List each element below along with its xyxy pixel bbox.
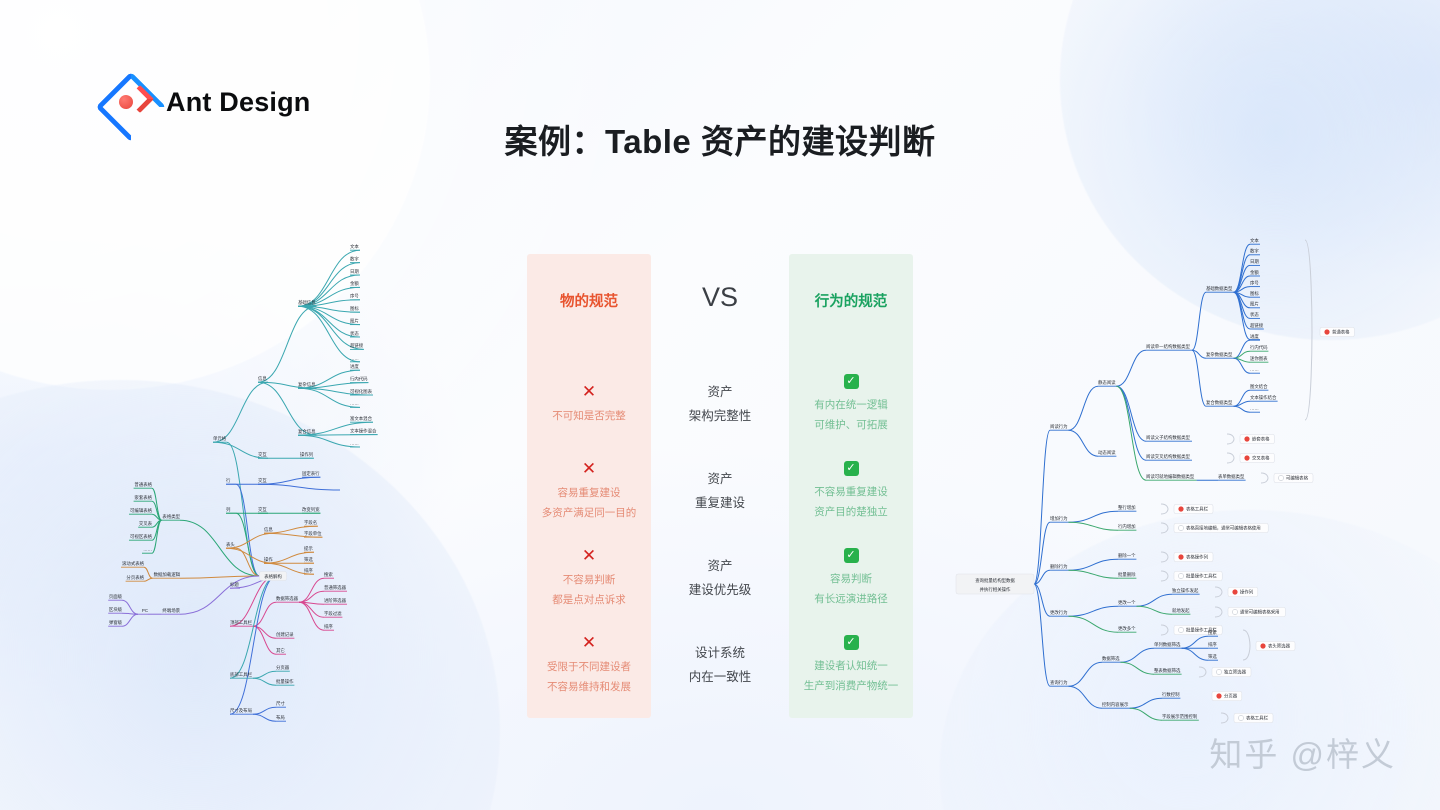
right-node-cross: 阅读交叉结构数据类型 [1146,453,1191,460]
right-leaf-basic-7: 状态 [1250,311,1259,317]
left-node-title: 标题 [230,581,239,588]
right-node-change-many: 更改多个 [1118,625,1136,632]
red-dot-icon [1260,643,1265,648]
map-bracket [1161,625,1168,635]
left-node-col-width: 改变列宽 [302,506,320,513]
left-leaf-basic-5: 图标 [350,305,359,312]
right-leaf-complex-2: 迷你图表 [1250,355,1268,362]
comparison-criterion: 内在一致性 [689,667,752,687]
map-bracket [1221,713,1228,723]
right-result-14: 表格工具栏 [1246,715,1269,722]
left-leaf-filter-4: 排序 [324,623,333,630]
red-dot-icon [1244,436,1249,441]
map-edge [152,520,162,553]
comparison-text: 不可知是否完整 [552,408,626,424]
comparison-text: 多资产满足同一目的 [542,505,637,521]
right-leaf-basic-5: 图标 [1250,290,1259,297]
comparison-column-right: 行为的规范 ✓有内在统一逻辑可维护、可拓展✓不容易重复建设资产目的楚独立✓容易判… [789,254,913,718]
map-edge [180,576,259,614]
map-edge [1034,430,1050,584]
right-node-parent-child: 阅读父子结构数据类型 [1146,434,1191,441]
right-leaf-complex-0: 进度 [1250,333,1259,340]
comparison-cell-middle-0: 资产架构完整性 [651,360,789,447]
left-node-action-col: 操作列 [300,451,314,458]
right-leaf-basic-3: 金额 [1250,269,1259,276]
right-node-table-filter: 整表数据筛选 [1154,667,1181,674]
left-node-others: 其它 [276,647,285,654]
right-leaf-basic-6: 图片 [1250,301,1259,308]
comparison-criterion: 建设优先级 [689,580,752,600]
red-dot-icon [1324,329,1329,334]
comparison-text: 可维护、可拓展 [814,417,888,433]
left-leaf-compound-2: …… [350,441,359,446]
map-bracket [1161,571,1168,581]
left-leaf-complex-3: …… [350,401,359,406]
right-node-col-filter: 单列数据筛选 [1154,641,1181,648]
gray-dot-icon [1232,609,1237,614]
map-edge [1116,386,1146,460]
comparison-cell-right-3: ✓建设者认知统一生产到消费产物统一 [789,621,913,708]
map-edge [227,442,260,576]
left-leaf-filter-2: 进阶筛选器 [324,597,347,604]
map-edge [144,567,152,578]
comparison-criterion: 设计系统 [695,643,745,663]
comparison-criterion: 架构完整性 [689,406,752,426]
map-bracket [1161,504,1168,514]
gray-dot-icon [1216,669,1221,674]
map-bracket [1215,607,1222,617]
left-node-cell: 单元格 [213,435,227,442]
map-edge [1034,522,1050,584]
map-edge [1116,386,1146,480]
comparison-cell-middle-2: 资产建设优先级 [651,534,789,621]
left-leaf-terminal-1: 区块级 [109,606,123,613]
right-node-inplace-op: 就地发起 [1172,607,1190,614]
left-column-header: 物的规范 [527,290,651,311]
comparison-text: 都是点对点诉求 [552,592,626,608]
right-result-0: 普通表格 [1332,329,1350,336]
right-node-row-count: 行数控制 [1162,691,1180,698]
comparison-cell-middle-1: 资产重复建设 [651,447,789,534]
right-node-content-display: 控制内容展示 [1102,701,1129,708]
left-leaf-size-0: 尺寸 [276,700,285,707]
left-leaf-compound-1: 文本操作混合 [350,427,377,434]
left-node-header: 表头 [226,541,235,548]
left-leaf-header-op-0: 提示 [304,545,313,552]
left-leaf-basic-1: 数字 [350,255,359,262]
left-leaf-basic-7: 状态 [350,330,359,336]
left-node-fixed-row: 固定表行 [302,470,320,477]
comparison-cell-left-2: ✕不容易判断都是点对点诉求 [527,534,651,621]
right-result-4: 表格工具栏 [1186,506,1209,513]
right-leaf-complex-3: …… [1250,367,1259,372]
right-result-13: 分页器 [1224,693,1238,700]
map-edge [1068,511,1118,522]
comparison-cell-middle-3: 设计系统内在一致性 [651,621,789,708]
right-result-2: 交叉表格 [1252,455,1270,462]
map-edge [299,591,324,602]
gray-dot-icon [1178,627,1183,632]
right-mind-map: 查询批量结构型数据并执行相关操作阅读行为静态阅读动态阅读阅读单一结构数据类型基础… [950,232,1370,732]
right-leaf-complex-1: 行内代码 [1250,344,1268,351]
right-result-11: 表头筛选器 [1268,643,1291,650]
map-edge [152,488,162,520]
map-edge [1120,648,1154,662]
left-node-row: 行 [226,477,231,484]
map-bracket [1161,523,1168,533]
map-bracket [1227,434,1234,444]
map-edge [253,671,276,678]
comparison-criterion: 重复建设 [695,493,745,513]
cross-icon: ✕ [582,547,596,564]
map-edge [144,578,152,581]
right-result-1: 嵌套表格 [1252,436,1270,443]
comparison-criterion: 资产 [707,469,732,489]
right-node-field-scope: 字段展示范围控制 [1162,713,1198,720]
red-dot-icon [1216,693,1221,698]
comparison-text: 不容易维持和发展 [547,679,631,695]
left-node-header-op: 操作 [264,556,273,563]
left-leaf-table-type-1: 嵌套表格 [134,494,152,501]
red-dot-icon [1178,554,1183,559]
map-bracket [1161,552,1168,562]
cross-icon: ✕ [582,383,596,400]
left-leaf-header-op-2: 排序 [304,567,313,574]
right-node-add-inline: 行内增加 [1118,523,1136,530]
map-edge [1182,636,1208,648]
left-leaf-basic-3: 金额 [350,280,359,287]
left-leaf-header-info-0: 字段名 [304,519,317,526]
cross-icon: ✕ [582,460,596,477]
map-bracket [1227,453,1234,463]
left-leaf-table-type-2: 可编辑表格 [130,507,153,514]
map-edge [1068,616,1118,632]
right-leaf-compound-0: 图文结合 [1250,383,1268,390]
right-node-form-type: 表单数据类型 [1218,473,1245,480]
right-node-del-batch: 批量删除 [1118,571,1136,578]
map-edge [1182,648,1208,660]
comparison-criterion: 资产 [707,382,732,402]
map-edge [1068,522,1118,530]
right-node-add-row: 整行增加 [1118,504,1136,511]
map-edge [258,306,316,382]
red-dot-icon [1178,506,1183,511]
comparison-cell-left-1: ✕容易重复建设多资产满足同一目的 [527,447,651,534]
watermark: 知乎 @梓义 [1209,728,1396,776]
right-result-3: 可编辑表格 [1286,475,1309,482]
comparison-text: 有内在统一逻辑 [814,397,888,413]
map-bracket [1305,240,1312,420]
right-node-add: 增加行为 [1050,515,1068,522]
map-edge [230,576,277,714]
left-leaf-size-1: 布局 [276,714,285,721]
right-leaf-colfilter-2: 筛选 [1208,653,1217,660]
map-edge [1130,708,1162,720]
right-leaf-colfilter-1: 排序 [1208,641,1217,648]
left-leaf-header-op-1: 筛选 [304,556,313,563]
right-node-complex-type: 复杂数据类型 [1206,351,1233,358]
red-dot-icon [1232,589,1237,594]
gray-dot-icon [1238,715,1243,720]
left-leaf-table-type-0: 普通表格 [134,481,152,488]
left-node-top-toolbar: 顶部工具栏 [230,619,253,626]
right-leaf-compound-2: …… [1250,406,1259,411]
comparison-cell-left-0: ✕不可知是否完整 [527,360,651,447]
right-result-6: 表格操作列 [1186,554,1209,561]
left-leaf-table-type-3: 交叉表 [139,520,153,527]
map-edge [1234,406,1250,412]
left-node-terminal: 终端场景 [162,607,180,614]
comparison-text: 有长远演进路径 [814,591,888,607]
left-leaf-filter-1: 普通筛选器 [324,584,347,591]
left-map-svg: 表格解构单元格信息基础信息文本数字日期金额序号图标图片状态超链接……复杂信息进度… [118,228,458,728]
left-leaf-basic-8: 超链接 [350,342,364,349]
left-leaf-terminal-0: 页面级 [109,593,123,600]
right-result-5: 表格直接地编辑，通常可编辑表格使用 [1186,525,1261,532]
map-edge [253,626,276,654]
left-node-filters: 数据筛选器 [276,595,299,602]
left-leaf-filter-3: 字段过滤 [324,610,342,617]
comparison-text: 容易重复建设 [558,485,621,501]
comparison-text: 建设者认知统一 [814,658,888,674]
map-edge [1068,559,1118,570]
left-leaf-basic-6: 图片 [350,317,359,324]
left-leaf-basic-0: 文本 [350,243,359,250]
right-node-editable: 阅读可就地编辑数据类型 [1146,473,1195,480]
check-icon: ✓ [844,635,859,650]
left-leaf-complex-2: 可视化图表 [350,388,373,395]
right-leaf-basic-1: 数字 [1250,248,1259,255]
map-bracket [1199,667,1206,677]
left-node-cell-interaction: 交互 [258,451,267,458]
map-edge [253,714,276,721]
right-leaf-basic-0: 文本 [1250,237,1259,244]
map-edge [253,678,276,685]
left-node-load-logic: 数据加载逻辑 [154,571,181,578]
left-node-bottom-toolbar: 底部工具栏 [230,671,253,678]
right-map-svg: 查询批量结构型数据并执行相关操作阅读行为静态阅读动态阅读阅读单一结构数据类型基础… [950,232,1370,732]
map-edge [1136,606,1172,614]
right-result-8: 操作列 [1240,589,1254,596]
left-node-compound-info: 复合信息 [298,428,316,435]
map-edge [1068,606,1118,616]
map-edge [299,578,324,602]
right-map-root-line-0: 查询批量结构型数据 [975,577,1015,584]
map-edge [213,382,268,442]
left-node-col: 列 [226,506,231,513]
map-edge [253,707,276,714]
map-edge [1234,340,1250,358]
left-leaf-basic-4: 序号 [350,293,359,300]
slide-canvas: Ant Design 案例：Table 资产的建设判断 表格解构单元格信息基础信… [0,0,1440,810]
right-result-7: 批量操作工具栏 [1186,573,1217,580]
check-icon: ✓ [844,461,859,476]
check-icon: ✓ [844,548,859,563]
left-leaf-complex-0: 进度 [350,363,359,370]
comparison-cell-left-3: ✕受限于不同建设者不容易维持和发展 [527,621,651,708]
gray-dot-icon [1278,475,1283,480]
map-edge [122,614,138,626]
map-edge [1192,292,1206,350]
left-mind-map: 表格解构单元格信息基础信息文本数字日期金额序号图标图片状态超链接……复杂信息进度… [118,228,458,728]
left-leaf-basic-2: 日期 [350,269,359,275]
left-leaf-header-info-1: 字段单位 [304,530,322,537]
right-column-header: 行为的规范 [789,290,913,311]
map-edge [1068,570,1118,578]
right-leaf-colfilter-0: 搜索 [1208,629,1217,636]
right-node-read: 阅读行为 [1050,423,1068,430]
right-result-9: 通常可编辑表格采用 [1240,609,1280,616]
map-edge [1116,350,1146,386]
left-leaf-load-1: 分页表格 [126,574,144,581]
comparison-panel: 物的规范 ✕不可知是否完整✕容易重复建设多资产满足同一目的✕不容易判断都是点对点… [527,254,913,718]
left-leaf-table-type-5: …… [143,547,152,552]
right-node-del: 删除行为 [1050,563,1068,570]
map-edge [258,484,340,490]
left-node-size-layout: 尺寸及布局 [230,707,252,714]
right-node-compound-type: 复合数据类型 [1206,399,1233,406]
right-map-root-line-1: 并执行相关操作 [980,586,1011,593]
left-node-pc: PC [142,608,148,613]
left-node-complex-info: 复杂信息 [298,381,316,388]
gray-dot-icon [1178,573,1183,578]
left-leaf-bottom-0: 分页器 [276,664,290,671]
left-leaf-basic-9: …… [350,356,359,361]
map-edge [230,576,277,678]
comparison-text: 容易判断 [830,571,872,587]
comparison-cell-right-2: ✓容易判断有长远演进路径 [789,534,913,621]
right-node-static-read: 静态阅读 [1098,379,1116,386]
comparison-text: 不容易重复建设 [814,484,888,500]
page-title: 案例：Table 资产的建设判断 [0,115,1440,163]
left-node-create-record: 创建记录 [276,631,294,638]
right-leaf-compound-1: 文本操作结合 [1250,394,1277,401]
map-edge [258,382,316,435]
comparison-text: 生产到消费产物统一 [804,678,899,694]
map-edge [122,600,138,614]
right-node-query: 查询行为 [1050,679,1068,686]
left-leaf-terminal-2: 弹窗级 [109,619,123,626]
comparison-cell-right-0: ✓有内在统一逻辑可维护、可拓展 [789,360,913,447]
left-node-table-type: 表格类型 [162,513,180,520]
map-edge [1068,386,1098,430]
left-leaf-filter-0: 搜索 [324,571,333,578]
left-leaf-compound-0: 富文本混合 [350,415,373,422]
map-bracket [1215,587,1222,597]
comparison-criterion: 资产 [707,556,732,576]
left-node-basic-info: 基础信息 [298,299,316,306]
right-node-data-filter: 数据筛选 [1102,655,1120,662]
map-edge [1068,662,1102,686]
right-node-change: 更改行为 [1050,609,1068,616]
map-edge [236,513,259,576]
map-edge [1068,686,1102,708]
left-leaf-load-0: 滚动式表格 [122,560,145,567]
right-leaf-basic-8: 超链接 [1250,322,1264,329]
red-dot-icon [1244,455,1249,460]
left-node-row-interaction: 交互 [258,477,267,484]
right-node-change-one: 更改一个 [1118,599,1136,606]
map-edge [1192,350,1206,406]
map-edge [258,477,320,484]
comparison-text: 资产目的楚独立 [814,504,888,520]
map-bracket [1261,473,1268,483]
check-icon: ✓ [844,374,859,389]
right-node-single-struct: 阅读单一结构数据类型 [1146,343,1191,350]
comparison-column-middle: VS 资产架构完整性资产重复建设资产建设优先级设计系统内在一致性 [651,254,789,718]
right-node-dynamic-read: 动态阅读 [1098,449,1116,456]
cross-icon: ✕ [582,634,596,651]
map-edge [1120,662,1154,674]
map-edge [1136,594,1172,606]
left-map-root-node: 表格解构 [264,573,282,580]
right-node-basic-type: 基础数据类型 [1206,285,1233,292]
right-node-del-one: 删除一个 [1118,552,1136,559]
map-bracket [1243,630,1250,660]
left-leaf-table-type-4: 可视区表格 [130,533,153,540]
map-edge [1068,430,1098,456]
left-leaf-bottom-1: 批量操作 [276,678,294,685]
left-node-info: 信息 [258,375,267,382]
left-node-header-info: 信息 [264,526,273,533]
comparison-text: 不容易判断 [563,572,616,588]
right-leaf-basic-4: 序号 [1250,279,1259,286]
comparison-column-left: 物的规范 ✕不可知是否完整✕容易重复建设多资产满足同一目的✕不容易判断都是点对点… [527,254,651,718]
brand-name: Ant Design [166,87,311,118]
right-leaf-basic-2: 日期 [1250,259,1259,265]
map-edge [1234,292,1250,329]
gray-dot-icon [1178,525,1183,530]
comparison-cell-right-1: ✓不容易重复建设资产目的楚独立 [789,447,913,534]
left-leaf-complex-1: 行内代码 [350,375,368,382]
right-node-independent-op: 独立操作发起 [1172,587,1199,594]
left-node-col-interaction: 交互 [258,506,267,513]
vs-label: VS [651,282,789,313]
map-edge [1130,698,1162,708]
comparison-text: 受限于不同建设者 [547,659,631,675]
right-result-12: 独立筛选器 [1224,669,1247,676]
